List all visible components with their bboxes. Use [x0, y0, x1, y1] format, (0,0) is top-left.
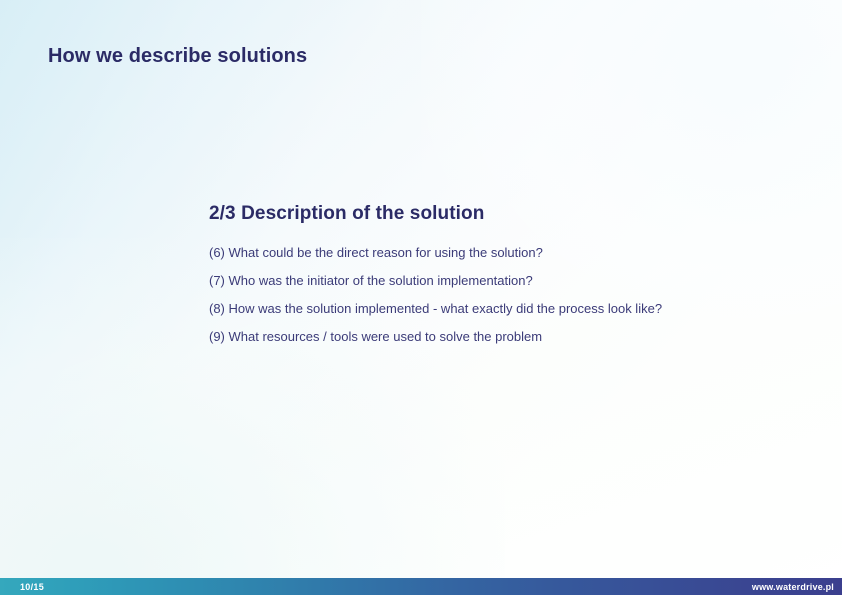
question-list: (6) What could be the direct reason for …: [209, 239, 769, 351]
content-block: 2/3 Description of the solution (6) What…: [209, 203, 769, 351]
presentation-slide: How we describe solutions 2/3 Descriptio…: [0, 0, 842, 595]
footer-website-label: www.waterdrive.pl: [752, 582, 834, 592]
section-heading: 2/3 Description of the solution: [209, 203, 769, 225]
list-item: (9) What resources / tools were used to …: [209, 323, 769, 351]
page-indicator: 10/15: [20, 582, 44, 592]
list-item: (8) How was the solution implemented - w…: [209, 295, 769, 323]
list-item: (7) Who was the initiator of the solutio…: [209, 267, 769, 295]
slide-footer-bar: 10/15 www.waterdrive.pl: [0, 578, 842, 595]
list-item: (6) What could be the direct reason for …: [209, 239, 769, 267]
slide-title: How we describe solutions: [48, 45, 307, 68]
